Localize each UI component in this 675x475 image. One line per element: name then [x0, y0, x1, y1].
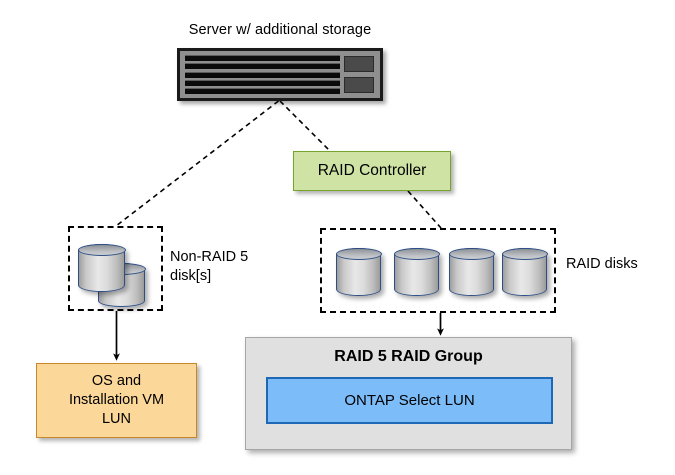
disk-cylinder-icon — [336, 248, 381, 296]
server-chassis-icon — [177, 48, 383, 101]
ontap-select-lun-node: ONTAP Select LUN — [266, 377, 553, 424]
server-drive-bay — [185, 80, 340, 86]
server-modules — [344, 56, 374, 93]
disk-cylinder-icon — [394, 248, 439, 296]
disk-cylinder-icon — [78, 244, 125, 292]
server-drive-bay — [185, 72, 340, 78]
os-installation-lun-line1: OS and — [69, 372, 164, 391]
raid-disks-label: RAID disks — [566, 256, 638, 272]
raid5-raid-group-node: RAID 5 RAID Group ONTAP Select LUN — [245, 337, 572, 450]
nonraid-disks-label-line1: Non-RAID 5 — [170, 248, 265, 267]
server-drive-bays — [185, 55, 340, 94]
page-title: Server w/ additional storage — [0, 22, 560, 38]
disk-cylinder-icon — [449, 248, 494, 296]
raid-disks-group — [320, 228, 556, 313]
connector-server-to-nonraid-disks — [116, 101, 279, 226]
server-module — [344, 56, 374, 72]
diagram-canvas: Server w/ additional storage RAID Contro… — [0, 0, 675, 475]
raid-controller-node: RAID Controller — [293, 151, 451, 191]
nonraid-disks-label-line2: disk[s] — [170, 267, 265, 286]
server-drive-bay — [185, 88, 340, 94]
disk-cylinder-icon — [502, 248, 547, 296]
server-module — [344, 77, 374, 93]
nonraid-disks-label: Non-RAID 5 disk[s] — [170, 248, 265, 286]
raid5-raid-group-title: RAID 5 RAID Group — [246, 348, 571, 366]
server-drive-bay — [185, 63, 340, 69]
server-drive-bay — [185, 55, 340, 61]
os-installation-lun-label: OS and Installation VM LUN — [69, 372, 164, 429]
os-installation-lun-line3: LUN — [69, 410, 164, 429]
nonraid-disks-group — [68, 226, 163, 311]
os-installation-lun-node: OS and Installation VM LUN — [36, 363, 197, 438]
os-installation-lun-line2: Installation VM — [69, 391, 164, 410]
connector-raid-controller-to-raid-disks — [408, 191, 441, 228]
connector-server-to-raid-controller — [280, 101, 330, 151]
